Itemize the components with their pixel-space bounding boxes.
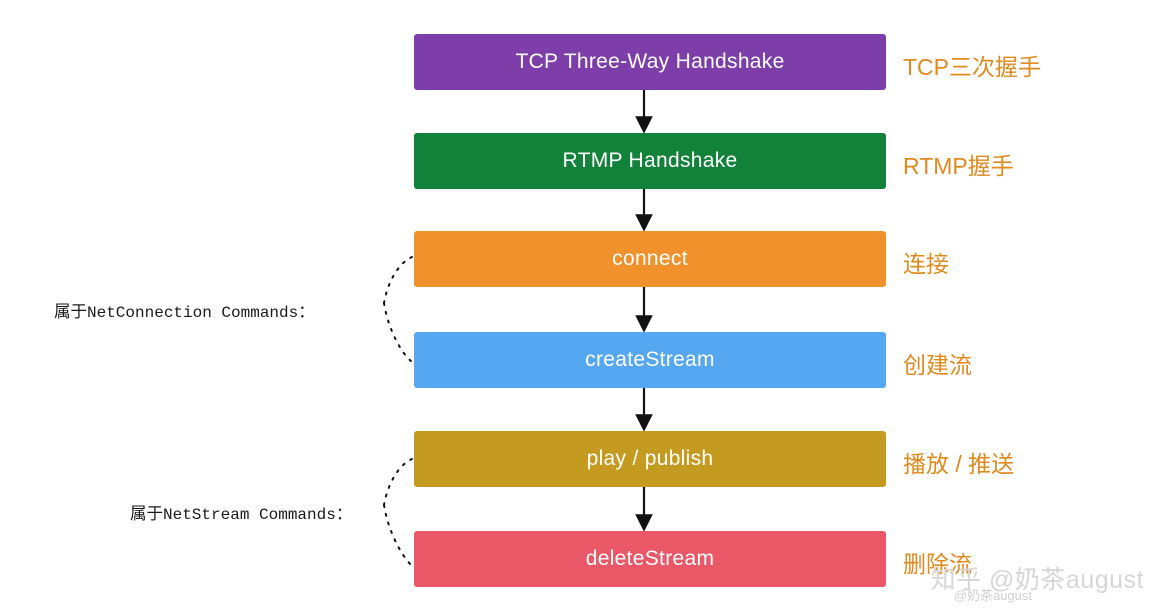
flow-node-label: connect (612, 247, 688, 271)
flow-node-tcp-handshake[interactable]: TCP Three-Way Handshake (414, 34, 886, 90)
group-suffix: ： (336, 505, 353, 523)
flow-node-connect[interactable]: connect (414, 231, 886, 287)
flow-node-label: play / publish (587, 447, 714, 471)
flow-node-createstream[interactable]: createStream (414, 332, 886, 388)
group-prefix: 属于 (54, 303, 87, 321)
annotation-deletestream: 删除流 (903, 545, 972, 579)
annotation-createstream: 创建流 (903, 346, 972, 380)
netconnection-bracket (384, 257, 412, 362)
group-mono-text: NetStream Commands (163, 506, 336, 524)
group-label-netstream: 属于NetStream Commands： (130, 500, 352, 524)
flow-node-label: deleteStream (586, 547, 715, 571)
annotation-rtmp-handshake: RTMP握手 (903, 147, 1014, 181)
flow-node-play-publish[interactable]: play / publish (414, 431, 886, 487)
group-label-netconnection: 属于NetConnection Commands： (54, 298, 315, 322)
netstream-bracket (384, 459, 412, 566)
flow-node-label: RTMP Handshake (562, 149, 737, 173)
flow-node-label: TCP Three-Way Handshake (515, 50, 784, 74)
annotation-play-publish: 播放 / 推送 (903, 445, 1014, 479)
group-mono-text: NetConnection Commands (87, 304, 298, 322)
flow-node-deletestream[interactable]: deleteStream (414, 531, 886, 587)
flow-node-label: createStream (585, 348, 715, 372)
annotation-connect: 连接 (903, 245, 949, 279)
annotation-tcp-handshake: TCP三次握手 (903, 48, 1041, 82)
group-suffix: ： (298, 303, 315, 321)
flow-node-rtmp-handshake[interactable]: RTMP Handshake (414, 133, 886, 189)
group-prefix: 属于 (130, 505, 163, 523)
